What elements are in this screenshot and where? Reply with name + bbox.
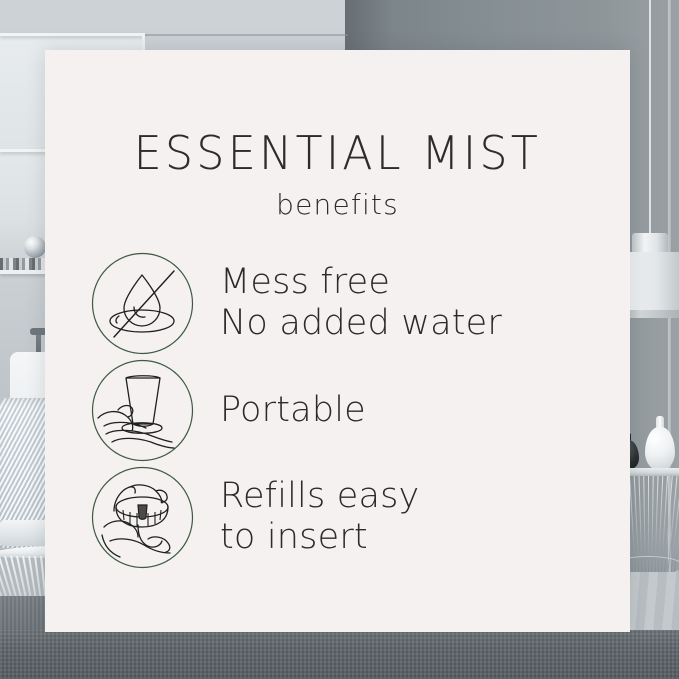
page-title: ESSENTIAL MIST	[45, 126, 630, 180]
white-vase	[645, 427, 675, 471]
hand-holding-diffuser-icon	[90, 358, 195, 463]
shelf-edge	[0, 33, 145, 36]
list-item: Mess free No added water	[45, 248, 630, 358]
benefits-list: Mess free No added water	[45, 248, 630, 572]
pendant-lamp-cord	[649, 0, 651, 236]
hands-inserting-refill-icon	[90, 465, 195, 570]
list-item: Portable	[45, 358, 630, 462]
carpet	[0, 630, 679, 679]
benefit-label: Portable	[220, 390, 366, 431]
benefit-label: Refills easy to insert	[220, 476, 419, 557]
no-water-droplet-icon	[90, 251, 195, 356]
product-infographic-image: ESSENTIAL MIST benefits Mess free No add…	[0, 0, 679, 679]
pendant-lamp-neck	[632, 233, 668, 255]
page-subtitle: benefits	[45, 188, 630, 221]
benefits-card: ESSENTIAL MIST benefits Mess free No add…	[45, 50, 630, 632]
benefit-label: Mess free No added water	[220, 262, 502, 343]
list-item: Refills easy to insert	[45, 462, 630, 572]
silver-decor-sphere	[24, 236, 46, 258]
